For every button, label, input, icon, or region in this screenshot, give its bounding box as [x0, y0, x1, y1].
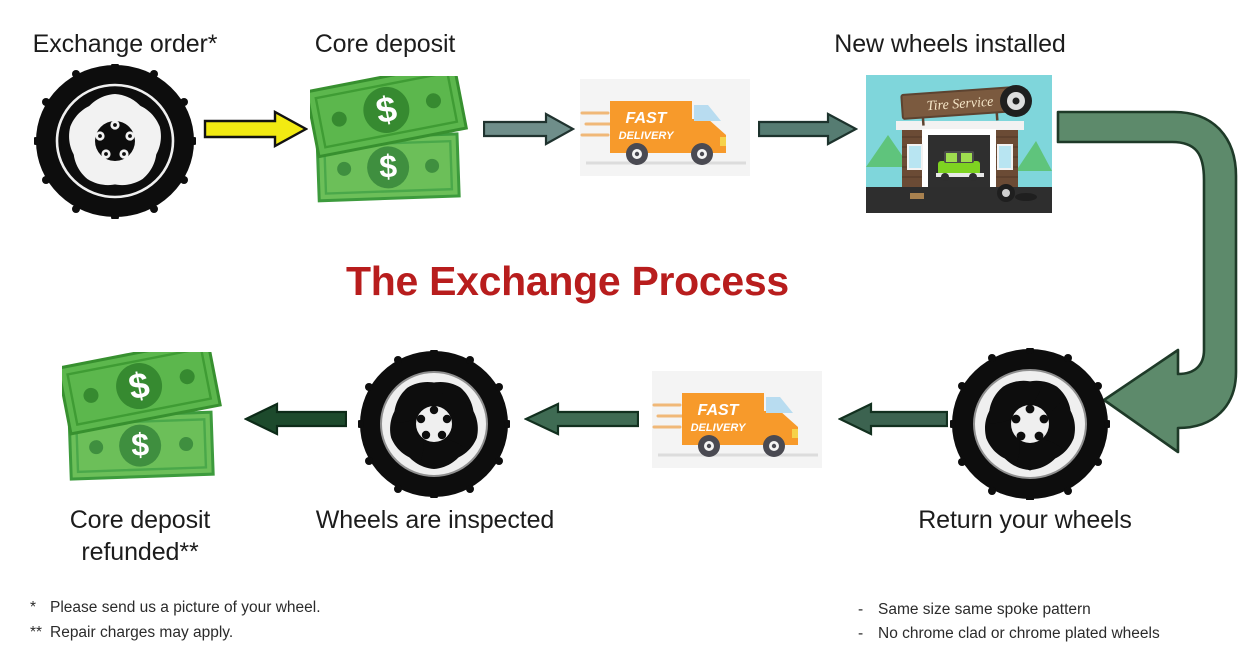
money-banknotes-icon: $ $: [310, 76, 480, 204]
footnote-left-2: **Repair charges may apply.: [30, 620, 233, 645]
core-deposit-refunded-line2: refunded**: [25, 536, 255, 568]
truck-text-delivery: DELIVERY: [691, 422, 747, 434]
step-label-core-deposit-refunded: Core deposit refunded**: [25, 504, 255, 568]
fast-delivery-truck-icon-top: FAST DELIVERY: [580, 79, 750, 176]
arrow-order-to-deposit: [203, 110, 308, 148]
chrome-alloy-wheel-icon-return: [950, 348, 1110, 500]
footnote-left-1: *Please send us a picture of your wheel.: [30, 595, 321, 620]
footnote-right-1-text: Same size same spoke pattern: [878, 601, 1091, 618]
page-title: The Exchange Process: [346, 258, 789, 305]
tire-service-shop-icon: Tire Service: [866, 75, 1052, 213]
core-deposit-refunded-line1: Core deposit: [25, 504, 255, 536]
step-label-wheels-inspected: Wheels are inspected: [300, 504, 570, 536]
footnote-left-2-text: Repair charges may apply.: [50, 624, 233, 641]
svg-text:$: $: [379, 148, 398, 185]
truck-text-delivery: DELIVERY: [619, 130, 675, 142]
exchange-process-diagram: Exchange order* Core deposit New wheels …: [0, 0, 1250, 666]
footnote-right-1-mark: -: [858, 597, 878, 622]
footnote-right-1: -Same size same spoke pattern: [858, 597, 1091, 622]
chrome-alloy-wheel-icon-inspected: [358, 350, 510, 498]
step-label-new-wheels-installed: New wheels installed: [800, 28, 1100, 60]
step-label-return-your-wheels: Return your wheels: [885, 504, 1165, 536]
arrow-truck-to-inspected: [524, 402, 639, 436]
fast-delivery-truck-icon-bottom: FAST DELIVERY: [652, 371, 822, 468]
truck-text-fast: FAST: [626, 110, 668, 127]
footnote-right-2-mark: -: [858, 621, 878, 646]
arrow-deposit-to-truck: [483, 112, 575, 146]
step-label-core-deposit: Core deposit: [285, 28, 485, 60]
svg-text:$: $: [131, 426, 150, 463]
footnote-right-2: -No chrome clad or chrome plated wheels: [858, 621, 1160, 646]
arrow-truck-to-shop: [758, 112, 858, 146]
footnote-left-2-mark: **: [30, 620, 50, 645]
arrow-inspected-to-refund: [244, 402, 347, 436]
footnote-left-1-mark: *: [30, 595, 50, 620]
truck-text-fast: FAST: [698, 402, 740, 419]
footnote-right-2-text: No chrome clad or chrome plated wheels: [878, 625, 1160, 642]
step-label-exchange-order: Exchange order*: [0, 28, 250, 60]
footnote-left-1-text: Please send us a picture of your wheel.: [50, 599, 321, 616]
arrow-return-to-truck: [838, 402, 948, 436]
money-banknotes-icon-refund: $ $: [62, 352, 237, 484]
dark-alloy-wheel-icon: [34, 64, 196, 219]
